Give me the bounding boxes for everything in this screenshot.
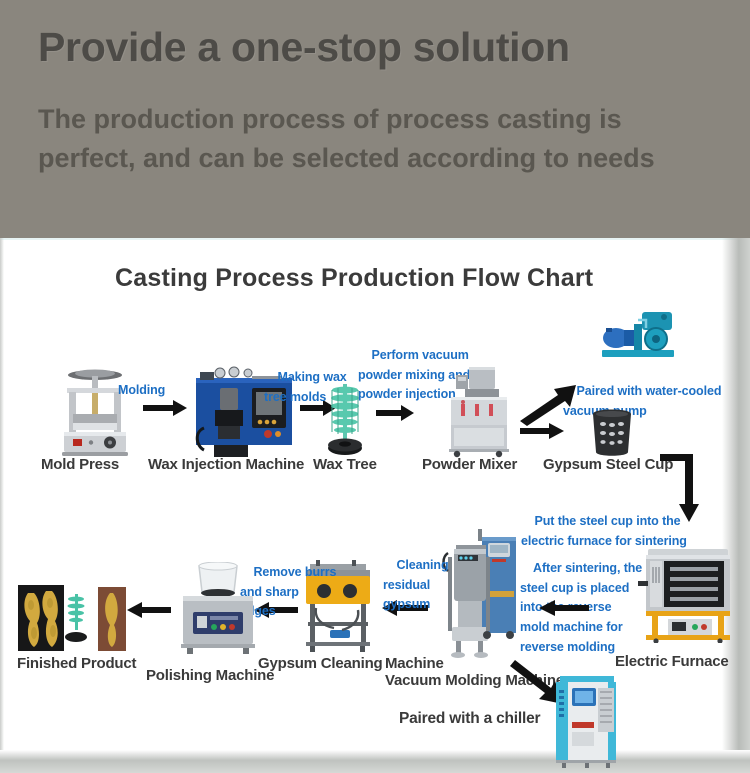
electric-furnace-image xyxy=(638,543,736,643)
card-bottom-edge xyxy=(0,750,750,773)
arrow-polishing-to-finished-product xyxy=(127,602,171,618)
label-mold-press: Mold Press xyxy=(41,456,119,473)
powder-mixer-image xyxy=(443,363,513,458)
arrow-furnace-to-vacuum-molding xyxy=(539,600,589,616)
label-powder-mixer: Powder Mixer xyxy=(422,456,517,473)
annotation-cleaning-gypsum-text: Cleaning residual gypsum xyxy=(383,558,448,612)
arrow-mold-press-to-wax-injection xyxy=(143,400,187,416)
chiller-image xyxy=(552,670,622,768)
gypsum-steel-cup-image xyxy=(587,404,637,459)
card-left-edge xyxy=(0,238,4,750)
label-wax-tree: Wax Tree xyxy=(313,456,377,473)
vacuum-molding-machine-image xyxy=(440,527,518,659)
label-machine: Machine xyxy=(385,655,444,672)
annotation-molding: Molding xyxy=(118,381,165,401)
label-gypsum-steel-cup: Gypsum Steel Cup xyxy=(543,456,673,473)
finished-product-image xyxy=(18,585,126,653)
mold-press-image xyxy=(55,366,135,458)
label-finished-product: Finished Product xyxy=(17,655,136,672)
annotation-molding-text: Molding xyxy=(118,383,165,397)
annotation-chiller: Paired with a chiller xyxy=(399,710,540,728)
page-title: Provide a one-stop solution xyxy=(38,24,698,71)
arrow-powder-mixer-to-steel-cup xyxy=(520,423,564,439)
label-wax-injection-machine: Wax Injection Machine xyxy=(148,456,304,473)
page-header: Provide a one-stop solution The producti… xyxy=(0,0,750,238)
card-right-edge xyxy=(722,238,750,750)
chart-title: Casting Process Production Flow Chart xyxy=(115,264,593,293)
page-subtitle: The production process of process castin… xyxy=(38,100,718,178)
polishing-machine-image xyxy=(177,562,259,654)
annotation-cleaning-gypsum: Cleaning residual gypsum xyxy=(383,536,448,635)
flow-chart-page: Provide a one-stop solution The producti… xyxy=(0,0,750,773)
label-polishing-machine: Polishing Machine xyxy=(146,667,274,684)
vacuum-pump-image xyxy=(598,308,678,360)
label-gypsum-cleaning: Gypsum Cleaning xyxy=(258,655,383,672)
